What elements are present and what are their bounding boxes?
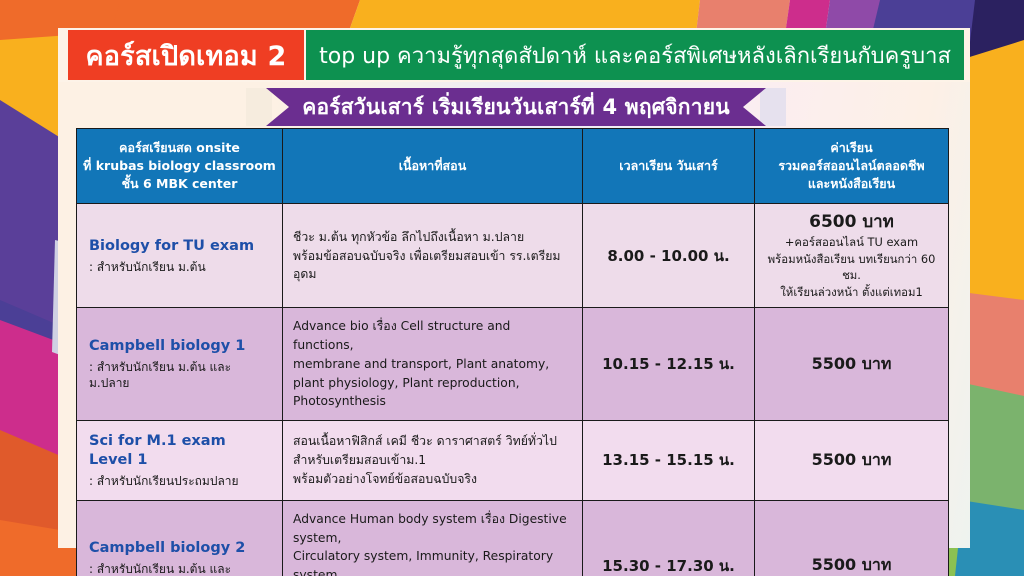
saturday-course-ribbon: คอร์สวันเสาร์ เริ่มเรียนวันเสาร์ที่ 4 พฤ… — [266, 88, 766, 126]
column-header-price-line1: ค่าเรียน — [761, 139, 942, 157]
table-row: Biology for TU exam : สำหรับนักเรียน ม.ต… — [77, 204, 949, 308]
course-title: Campbell biology 2 — [89, 539, 270, 558]
content-line: สำหรับเตรียมสอบเข้าม.1 — [293, 451, 572, 470]
column-header-time: เวลาเรียน วันเสาร์ — [583, 129, 755, 204]
row-course-cell: Sci for M.1 exam Level 1 : สำหรับนักเรีย… — [77, 420, 283, 500]
row-price-cell: 6500 บาท +คอร์สออนไลน์ TU exam พร้อมหนัง… — [755, 204, 949, 308]
course-subtitle: : สำหรับนักเรียน ม.ต้น และ ม.ปลาย — [89, 561, 270, 576]
table-header-row: คอร์สเรียนสด onsite ที่ krubas biology c… — [77, 129, 949, 204]
content-line: พร้อมตัวอย่างโจทย์ข้อสอบฉบับจริง — [293, 470, 572, 489]
column-header-price-line2: รวมคอร์สออนไลน์ตลอดชีพ — [761, 157, 942, 175]
content-line: Advance Human body system เรื่อง Digesti… — [293, 510, 572, 547]
ribbon-tail-left — [246, 88, 272, 126]
column-header-price: ค่าเรียน รวมคอร์สออนไลน์ตลอดชีพ และหนังส… — [755, 129, 949, 204]
row-time-cell: 13.15 - 15.15 น. — [583, 420, 755, 500]
content-line: Advance bio เรื่อง Cell structure and fu… — [293, 317, 572, 354]
price-note-line: พร้อมหนังสือเรียน บทเรียนกว่า 60 ชม. — [761, 251, 942, 284]
row-time-cell: 10.15 - 12.15 น. — [583, 308, 755, 420]
table-row: Campbell biology 2 : สำหรับนักเรียน ม.ต้… — [77, 500, 949, 576]
course-title: Sci for M.1 exam Level 1 — [89, 432, 270, 470]
row-content-cell: Advance Human body system เรื่อง Digesti… — [283, 500, 583, 576]
price-note-line: ให้เรียนล่วงหน้า ตั้งแต่เทอม1 — [761, 284, 942, 301]
course-title: Campbell biology 1 — [89, 337, 270, 356]
content-line: สอนเนื้อหาฟิสิกส์ เคมี ชีวะ ดาราศาสตร์ ว… — [293, 432, 572, 451]
content-line: plant physiology, Plant reproduction, Ph… — [293, 374, 572, 411]
header-badge-label: คอร์สเปิดเทอม 2 — [86, 34, 287, 77]
content-line: พร้อมข้อสอบฉบับจริง เพื่อเตรียมสอบเข้า ร… — [293, 247, 572, 284]
price-note-line: +คอร์สออนไลน์ TU exam — [761, 234, 942, 251]
content-line: membrane and transport, Plant anatomy, — [293, 355, 572, 374]
content-line: ชีวะ ม.ต้น ทุกหัวข้อ ลึกไปถึงเนื้อหา ม.ป… — [293, 228, 572, 247]
column-header-course-line1: คอร์สเรียนสด onsite — [83, 139, 276, 157]
table-row: Campbell biology 1 : สำหรับนักเรียน ม.ต้… — [77, 308, 949, 420]
course-title: Biology for TU exam — [89, 237, 270, 256]
header-tagline-label: top up ความรู้ทุกสุดสัปดาห์ และคอร์สพิเศ… — [319, 38, 951, 73]
course-subtitle: : สำหรับนักเรียน ม.ต้น — [89, 259, 270, 275]
ribbon-label: คอร์สวันเสาร์ เริ่มเรียนวันเสาร์ที่ 4 พฤ… — [302, 91, 730, 124]
price-amount: 5500 บาท — [761, 553, 942, 576]
course-schedule-table: คอร์สเรียนสด onsite ที่ krubas biology c… — [76, 128, 949, 576]
ribbon-tail-right — [760, 88, 786, 126]
price-amount: 6500 บาท — [761, 211, 942, 234]
row-price-cell: 5500 บาท — [755, 308, 949, 420]
table-row: Sci for M.1 exam Level 1 : สำหรับนักเรีย… — [77, 420, 949, 500]
row-time-cell: 8.00 - 10.00 น. — [583, 204, 755, 308]
row-price-cell: 5500 บาท — [755, 500, 949, 576]
column-header-course: คอร์สเรียนสด onsite ที่ krubas biology c… — [77, 129, 283, 204]
price-amount: 5500 บาท — [761, 352, 942, 377]
content-line: Circulatory system, Immunity, Respirator… — [293, 547, 572, 576]
course-subtitle: : สำหรับนักเรียนประถมปลาย — [89, 473, 270, 489]
row-course-cell: Biology for TU exam : สำหรับนักเรียน ม.ต… — [77, 204, 283, 308]
column-header-price-line3: และหนังสือเรียน — [761, 175, 942, 193]
row-content-cell: สอนเนื้อหาฟิสิกส์ เคมี ชีวะ ดาราศาสตร์ ว… — [283, 420, 583, 500]
row-content-cell: ชีวะ ม.ต้น ทุกหัวข้อ ลึกไปถึงเนื้อหา ม.ป… — [283, 204, 583, 308]
row-content-cell: Advance bio เรื่อง Cell structure and fu… — [283, 308, 583, 420]
row-time-cell: 15.30 - 17.30 น. — [583, 500, 755, 576]
row-course-cell: Campbell biology 1 : สำหรับนักเรียน ม.ต้… — [77, 308, 283, 420]
course-subtitle: : สำหรับนักเรียน ม.ต้น และ ม.ปลาย — [89, 359, 270, 391]
row-course-cell: Campbell biology 2 : สำหรับนักเรียน ม.ต้… — [77, 500, 283, 576]
column-header-course-line3: ชั้น 6 MBK center — [83, 175, 276, 193]
poster-canvas: คอร์สเปิดเทอม 2 top up ความรู้ทุกสุดสัปด… — [0, 0, 1024, 576]
header-badge: คอร์สเปิดเทอม 2 — [68, 30, 304, 80]
column-header-course-line2: ที่ krubas biology classroom — [83, 157, 276, 175]
price-amount: 5500 บาท — [761, 448, 942, 473]
column-header-content: เนื้อหาที่สอน — [283, 129, 583, 204]
header-tagline-bar: top up ความรู้ทุกสุดสัปดาห์ และคอร์สพิเศ… — [306, 30, 964, 80]
row-price-cell: 5500 บาท — [755, 420, 949, 500]
